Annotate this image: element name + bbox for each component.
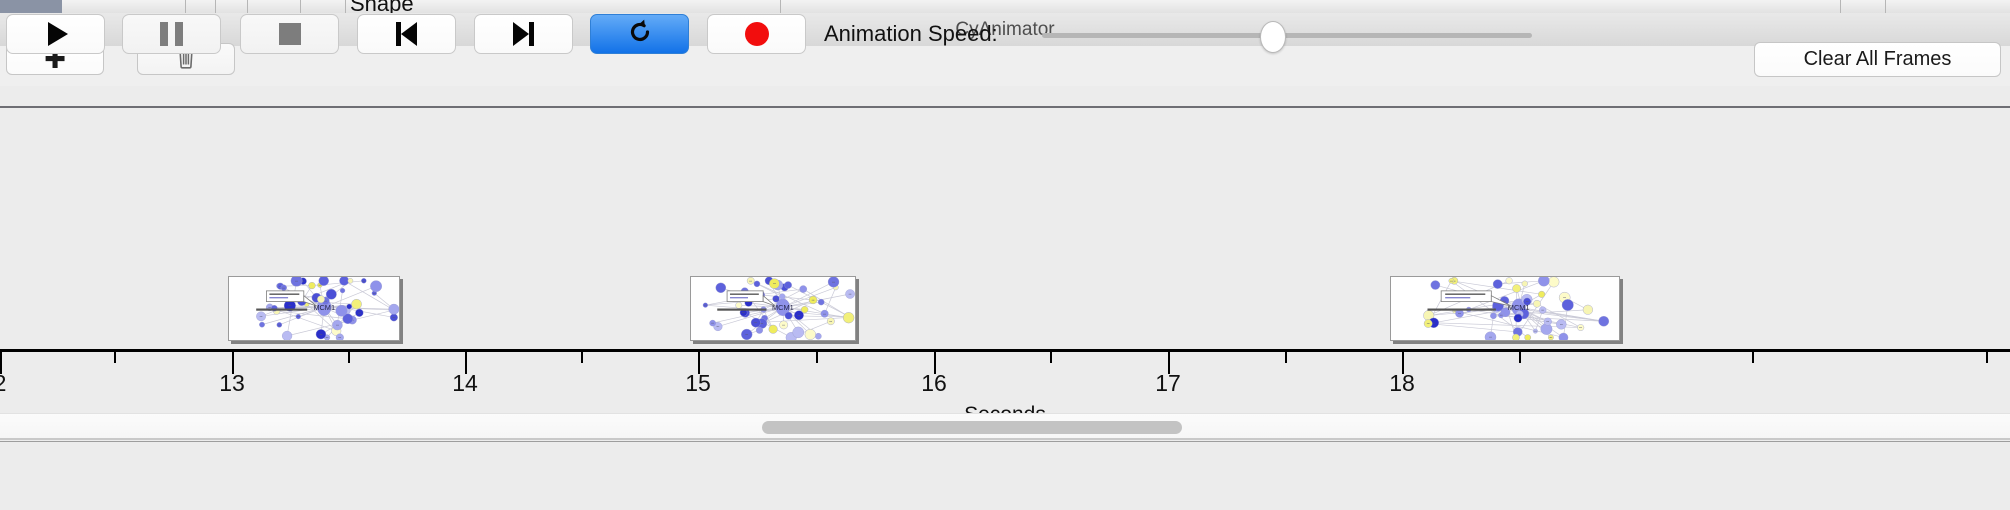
svg-text:•••: ••• — [1560, 323, 1563, 326]
svg-text:MCM1: MCM1 — [313, 303, 335, 312]
loop-icon — [625, 17, 655, 52]
svg-text:•••: ••• — [716, 326, 719, 329]
svg-text:•••: ••• — [849, 293, 852, 296]
svg-text:•••: ••• — [1546, 321, 1549, 324]
svg-text:•••: ••• — [760, 323, 763, 326]
skip-forward-icon — [513, 22, 534, 46]
svg-text:•••: ••• — [1432, 322, 1435, 325]
slider-track[interactable] — [1042, 33, 1532, 38]
record-button[interactable] — [707, 14, 806, 54]
svg-text:MCM1: MCM1 — [772, 303, 794, 312]
svg-text:•••: ••• — [1450, 280, 1453, 283]
pause-icon — [160, 22, 183, 46]
timeline-tick-minor — [1050, 352, 1052, 363]
frame-thumbnail[interactable]: ••••••••••••••••••••••••••••••••••••••••… — [228, 276, 400, 341]
svg-text:•••: ••• — [260, 315, 263, 318]
timeline-tick-label: 13 — [219, 370, 245, 397]
svg-text:•••: ••• — [754, 322, 757, 325]
svg-text:•••: ••• — [392, 317, 395, 320]
timeline-tick-minor — [816, 352, 818, 363]
timeline-tick-minor — [114, 352, 116, 363]
timeline-tick-label: 17 — [1155, 370, 1181, 397]
clear-all-frames-button[interactable]: Clear All Frames — [1754, 42, 2001, 77]
timeline-tick-label: 18 — [1389, 370, 1415, 397]
background-window-label: Shape — [350, 0, 414, 13]
loop-button[interactable] — [590, 14, 689, 54]
svg-text:•••: ••• — [1534, 330, 1537, 333]
svg-text:•••: ••• — [1563, 297, 1566, 300]
stop-button[interactable] — [240, 14, 339, 54]
frame-thumbnail[interactable]: ••••••••••••••••••••••••••••••••••••••••… — [690, 276, 856, 341]
svg-text:•••: ••• — [798, 314, 801, 317]
timeline-panel[interactable]: ••••••••••••••••••••••••••••••••••••••••… — [0, 108, 2010, 413]
svg-text:•••: ••• — [320, 333, 323, 336]
svg-text:•••: ••• — [782, 324, 785, 327]
svg-text:•••: ••• — [704, 304, 707, 307]
next-frame-button[interactable] — [474, 14, 573, 54]
svg-text:•••: ••• — [832, 281, 835, 284]
timeline-tick-label: 14 — [452, 370, 478, 397]
timeline-tick-minor — [1752, 352, 1754, 363]
svg-text:•••: ••• — [1549, 337, 1552, 340]
timeline-scrollbar[interactable] — [0, 413, 2010, 440]
svg-text:•••: ••• — [1517, 317, 1520, 320]
svg-text:•••: ••• — [1489, 336, 1492, 339]
svg-text:•••: ••• — [742, 312, 745, 315]
svg-text:•••: ••• — [711, 322, 714, 325]
record-icon — [745, 22, 769, 46]
svg-text:•••: ••• — [1541, 309, 1544, 312]
scrollbar-thumb[interactable] — [762, 421, 1182, 434]
svg-text:•••: ••• — [362, 280, 365, 283]
svg-text:•••: ••• — [373, 292, 376, 295]
svg-text:•••: ••• — [1500, 314, 1503, 317]
cyanimator-window: Shape CyAnimator ✚ Clear All Frames ••••… — [0, 0, 2010, 510]
svg-text:•••: ••• — [282, 287, 285, 290]
play-button[interactable] — [6, 14, 105, 54]
playback-control-bar — [0, 441, 2010, 510]
timeline-tick-label: 16 — [921, 370, 947, 397]
axis-title: Seconds — [0, 403, 2010, 413]
frame-thumbnail[interactable]: ••••••••••••••••••••••••••••••••••••••••… — [1390, 276, 1620, 341]
svg-text:•••: ••• — [1579, 327, 1582, 330]
skip-back-icon — [396, 22, 417, 46]
svg-text:•••: ••• — [295, 280, 298, 283]
previous-frame-button[interactable] — [357, 14, 456, 54]
background-window-strip: Shape — [0, 0, 2010, 13]
svg-text:•••: ••• — [775, 298, 778, 301]
svg-text:•••: ••• — [326, 337, 329, 340]
stop-icon — [279, 23, 301, 45]
svg-text:•••: ••• — [336, 324, 339, 327]
timeline-tick-label: 2 — [0, 370, 6, 397]
timeline-tick-minor — [581, 352, 583, 363]
svg-text:•••: ••• — [812, 299, 815, 302]
svg-text:•••: ••• — [1427, 323, 1430, 326]
svg-text:•••: ••• — [773, 283, 776, 286]
timeline-tick-minor — [348, 352, 350, 363]
svg-text:•••: ••• — [823, 313, 826, 316]
play-icon — [48, 22, 68, 46]
timeline-tick-minor — [1986, 352, 1988, 363]
pause-button[interactable] — [122, 14, 221, 54]
timeline-tick-minor — [1519, 352, 1521, 363]
svg-text:•••: ••• — [338, 337, 341, 340]
svg-text:•••: ••• — [358, 312, 361, 315]
timeline-axis — [0, 349, 2010, 352]
svg-text:•••: ••• — [1458, 313, 1461, 316]
timeline-tick-label: 15 — [685, 370, 711, 397]
svg-text:•••: ••• — [829, 320, 832, 323]
svg-text:•••: ••• — [297, 316, 300, 319]
background-window-sidebar — [0, 0, 62, 13]
timeline-tick-minor — [1285, 352, 1287, 363]
svg-text:•••: ••• — [278, 324, 281, 327]
svg-text:•••: ••• — [288, 305, 291, 308]
scrollbar-base — [0, 438, 2010, 440]
animation-speed-label: Animation Speed: — [824, 14, 998, 54]
svg-text:•••: ••• — [749, 280, 752, 283]
svg-text:•••: ••• — [745, 334, 748, 337]
svg-text:MCM1: MCM1 — [1508, 303, 1530, 312]
